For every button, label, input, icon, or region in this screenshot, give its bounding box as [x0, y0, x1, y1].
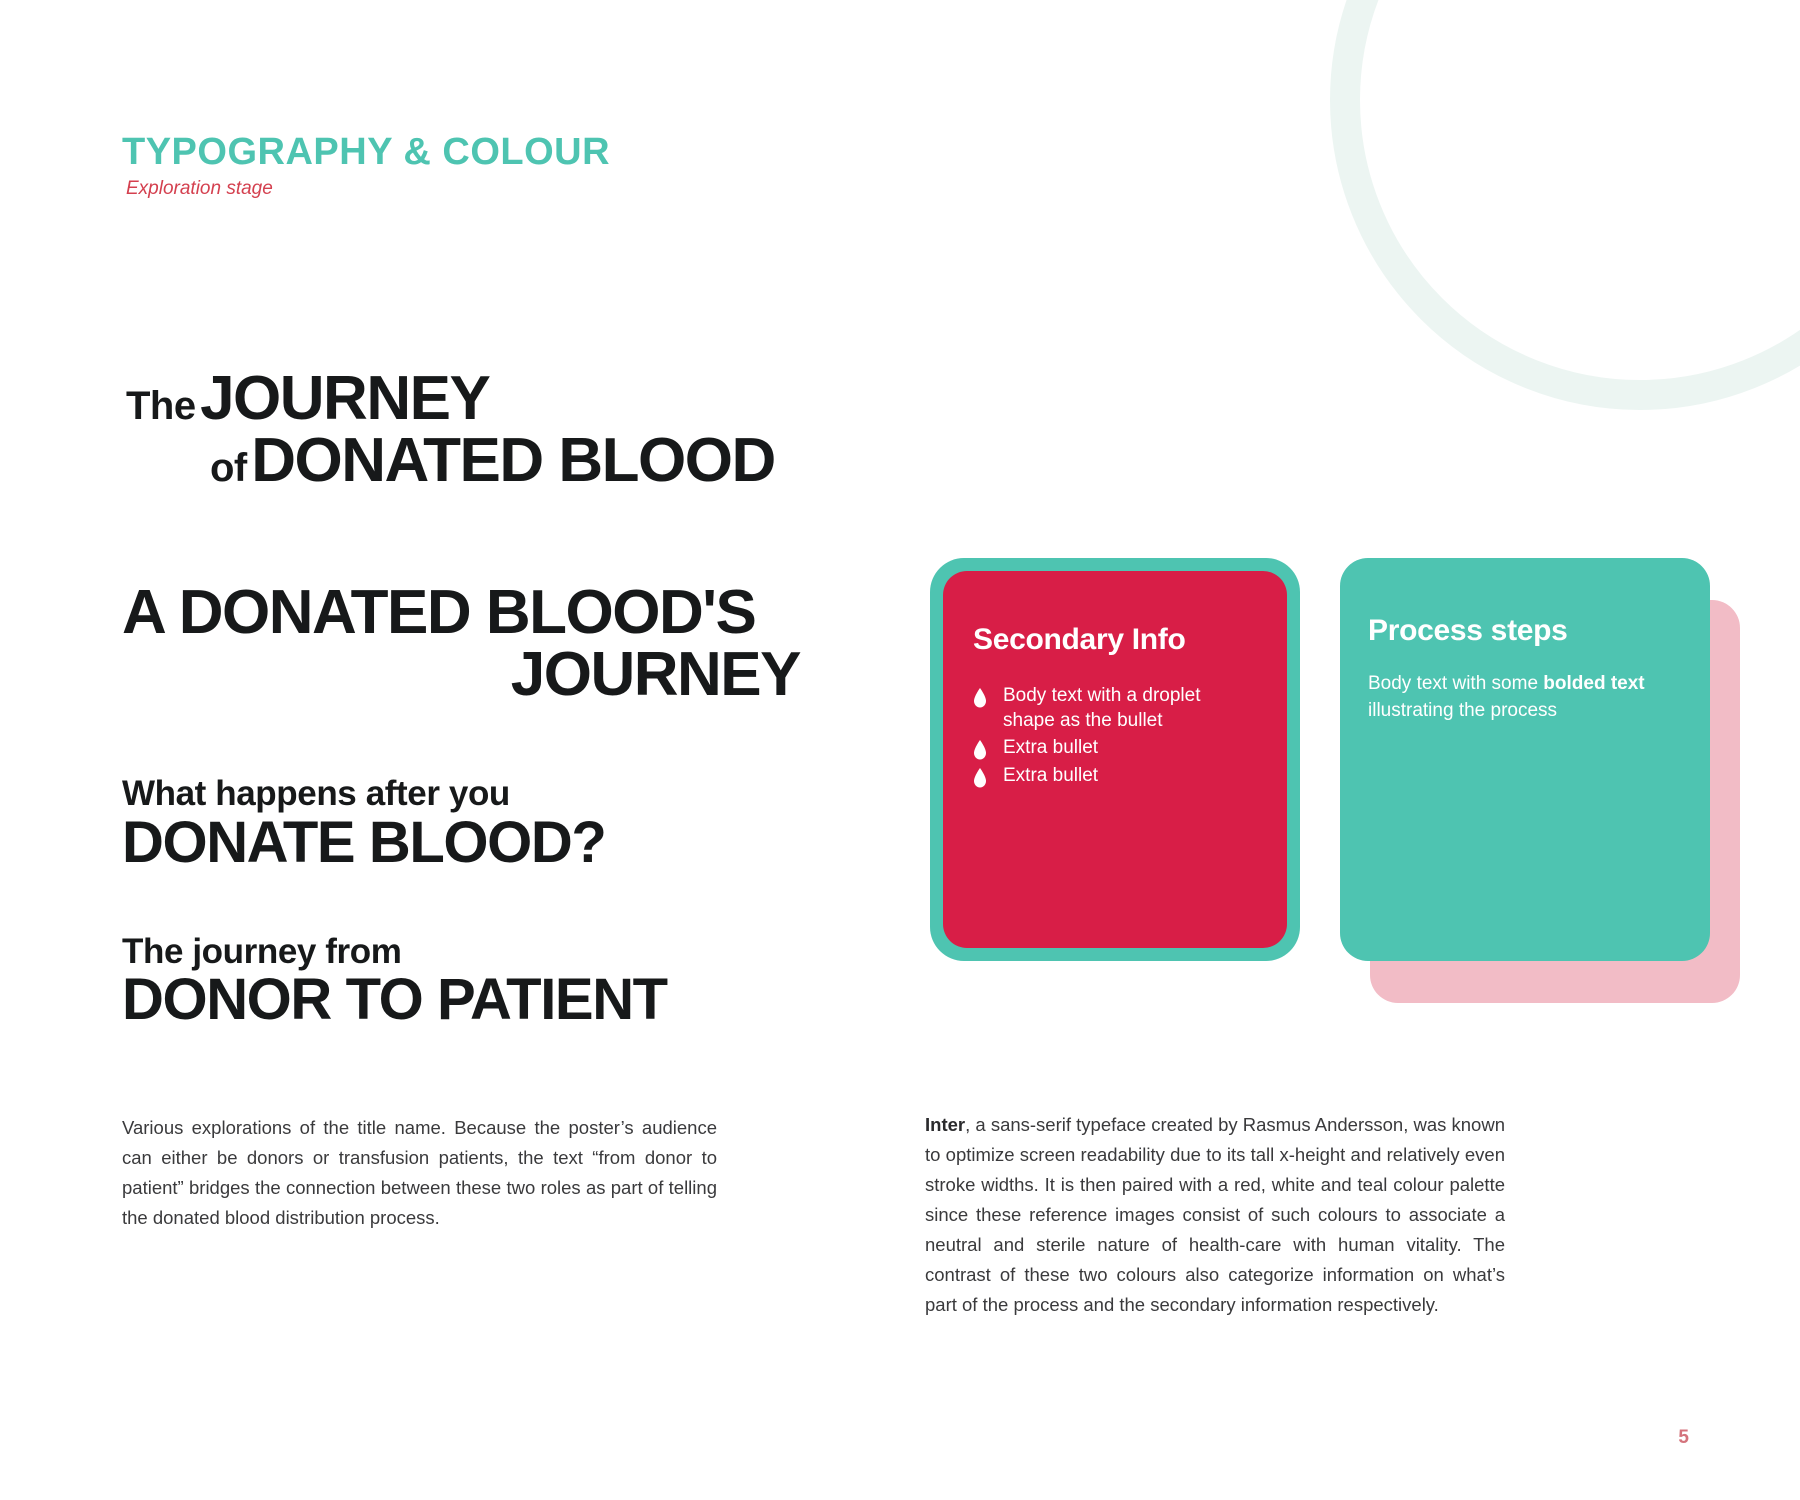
process-steps-card: Process steps Body text with some bolded…	[1340, 558, 1710, 961]
list-item: Body text with a droplet shape as the bu…	[973, 684, 1257, 733]
decorative-arc-icon	[1330, 0, 1800, 410]
page-header: TYPOGRAPHY & COLOUR Exploration stage	[122, 133, 610, 198]
specimen-2-line2: JOURNEY	[122, 644, 800, 706]
process-steps-card-body: Body text with some bolded text illustra…	[1368, 671, 1682, 724]
specimen-3-kicker: What happens after you	[122, 776, 822, 813]
specimen-1-line1-small: The	[126, 384, 196, 428]
process-body-part1: Body text with some	[1368, 673, 1543, 694]
page-subtitle: Exploration stage	[126, 179, 610, 198]
droplet-icon	[973, 740, 987, 760]
caption-left: Various explorations of the title name. …	[122, 1113, 717, 1233]
page-number: 5	[1678, 1427, 1689, 1449]
process-body-part2: illustrating the process	[1368, 700, 1557, 721]
caption-right-rest: , a sans-serif typeface created by Rasmu…	[925, 1114, 1505, 1315]
process-steps-card-title: Process steps	[1368, 614, 1682, 647]
specimen-3-main: DONATE BLOOD?	[122, 813, 822, 874]
droplet-icon	[973, 768, 987, 788]
secondary-info-bullet-list: Body text with a droplet shape as the bu…	[973, 684, 1257, 789]
type-specimens: The JOURNEY of DONATED BLOOD A DONATED B…	[122, 368, 822, 1031]
caption-right-bold: Inter	[925, 1114, 965, 1135]
specimen-the-journey-from-donor-to-patient: The journey from DONOR TO PATIENT	[122, 934, 822, 1032]
process-body-bold: bolded text	[1543, 673, 1644, 694]
list-item-label: Extra bullet	[1003, 736, 1257, 761]
specimen-4-main: DONOR TO PATIENT	[122, 970, 822, 1031]
list-item-label: Extra bullet	[1003, 764, 1257, 789]
specimen-what-happens-after-you-donate-blood: What happens after you DONATE BLOOD?	[122, 776, 822, 874]
caption-right: Inter, a sans-serif typeface created by …	[925, 1110, 1505, 1320]
specimen-1-line1-big: JOURNEY	[200, 364, 489, 433]
specimen-1-line2-small: of	[210, 446, 247, 490]
list-item: Extra bullet	[973, 736, 1257, 761]
secondary-info-card: Secondary Info Body text with a droplet …	[930, 558, 1300, 961]
secondary-info-card-title: Secondary Info	[973, 623, 1257, 656]
specimen-1-line2-big: DONATED BLOOD	[251, 426, 775, 495]
droplet-icon	[973, 688, 987, 708]
page-title: TYPOGRAPHY & COLOUR	[122, 133, 610, 171]
specimen-4-kicker: The journey from	[122, 934, 822, 971]
specimen-2-line1: A DONATED BLOOD'S	[122, 582, 822, 644]
list-item: Extra bullet	[973, 764, 1257, 789]
secondary-info-card-inner: Secondary Info Body text with a droplet …	[943, 571, 1287, 948]
specimen-journey-of-donated-blood: The JOURNEY of DONATED BLOOD	[122, 368, 822, 492]
list-item-label: Body text with a droplet shape as the bu…	[1003, 684, 1257, 733]
specimen-a-donated-bloods-journey: A DONATED BLOOD'S JOURNEY	[122, 582, 822, 706]
